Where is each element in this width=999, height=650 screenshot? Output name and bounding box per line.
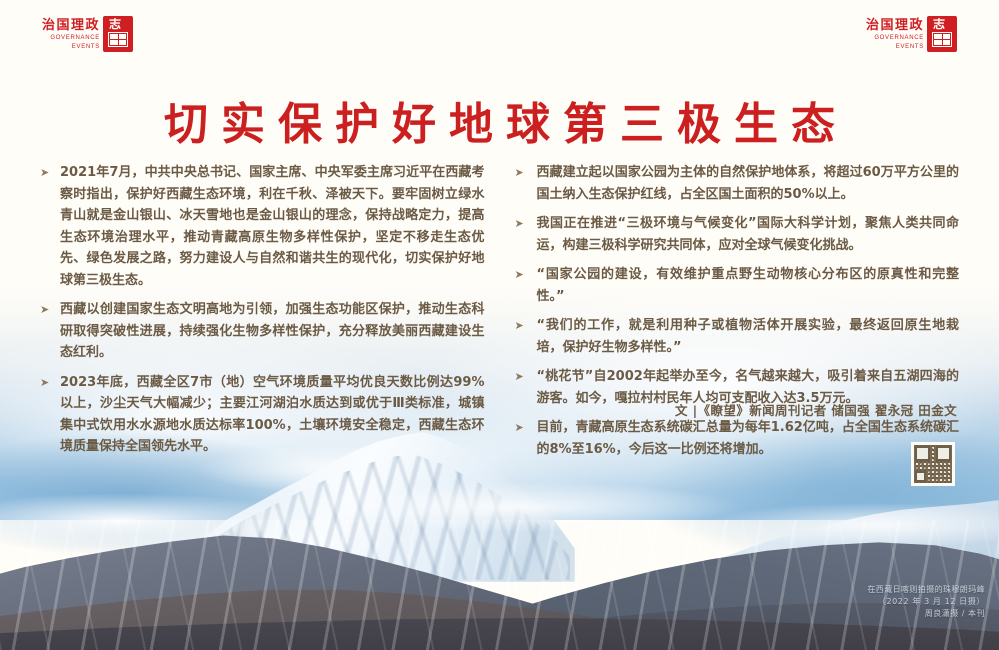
logo-right: 治国理政 GOVERNANCE EVENTS 志 <box>866 16 957 52</box>
arrow-bullet-icon: ➤ <box>515 315 537 336</box>
list-item: ➤ 2021年7月，中共中央总书记、国家主席、中央军委主席习近平在西藏考察时指出… <box>40 162 485 291</box>
seal-glyph: 志 <box>109 18 121 31</box>
list-item-text: 2023年底，西藏全区7市（地）空气环境质量平均优良天数比例达99%以上，沙尘天… <box>60 372 485 458</box>
list-item: ➤ 我国正在推进“三极环境与气候变化”国际大科学计划，聚焦人类共同命运，构建三极… <box>515 213 960 256</box>
list-item: ➤ 西藏建立起以国家公园为主体的自然保护地体系，将超过60万平方公里的国土纳入生… <box>515 162 960 205</box>
list-item-text: 目前，青藏高原生态系统碳汇总量为每年1.62亿吨，占全国生态系统碳汇的8%至16… <box>537 417 960 460</box>
logo-text-block: 治国理政 GOVERNANCE EVENTS <box>42 19 100 50</box>
seal-icon: 志 <box>927 16 957 52</box>
arrow-bullet-icon: ➤ <box>515 213 537 234</box>
list-item-text: 西藏以创建国家生态文明高地为引领，加强生态功能区保护，推动生态科研取得突破性进展… <box>60 299 485 364</box>
qr-code-pattern <box>914 445 952 483</box>
logo-english-line1: GOVERNANCE <box>866 35 924 41</box>
seal-icon: 志 <box>103 16 133 52</box>
seal-grid <box>934 34 950 45</box>
poster-page: 治国理政 GOVERNANCE EVENTS 志 治国理政 GOVERNANCE… <box>0 0 999 650</box>
arrow-bullet-icon: ➤ <box>40 299 60 320</box>
logo-chinese-name: 治国理政 <box>42 19 100 32</box>
list-item-text: “国家公园的建设，有效维护重点野生动物核心分布区的原真性和完整性。” <box>537 264 960 307</box>
arrow-bullet-icon: ➤ <box>515 264 537 285</box>
photo-caption-line1: 在西藏日喀则拍摄的珠穆朗玛峰 <box>867 584 985 596</box>
arrow-bullet-icon: ➤ <box>515 417 537 438</box>
arrow-bullet-icon: ➤ <box>40 372 60 393</box>
left-column: ➤ 2021年7月，中共中央总书记、国家主席、中央军委主席习近平在西藏考察时指出… <box>40 162 485 468</box>
logo-chinese-name: 治国理政 <box>866 19 924 32</box>
qr-corner-bottom-left <box>915 471 926 482</box>
photo-caption-line3: 周良潇摄 / 本刊 <box>867 608 985 620</box>
list-item: ➤ 西藏以创建国家生态文明高地为引领，加强生态功能区保护，推动生态科研取得突破性… <box>40 299 485 364</box>
list-item-text: 我国正在推进“三极环境与气候变化”国际大科学计划，聚焦人类共同命运，构建三极科学… <box>537 213 960 256</box>
photo-caption: 在西藏日喀则拍摄的珠穆朗玛峰 （2022 年 3 月 12 日摄） 周良潇摄 /… <box>867 584 985 620</box>
list-item: ➤ 目前，青藏高原生态系统碳汇总量为每年1.62亿吨，占全国生态系统碳汇的8%至… <box>515 417 960 460</box>
list-item-text: “我们的工作，就是利用种子或植物活体开展实验，最终返回原生地栽培，保护好生物多样… <box>537 315 960 358</box>
seal-glyph: 志 <box>933 18 945 31</box>
arrow-bullet-icon: ➤ <box>40 162 60 183</box>
list-item-text: 西藏建立起以国家公园为主体的自然保护地体系，将超过60万平方公里的国土纳入生态保… <box>537 162 960 205</box>
article-columns: ➤ 2021年7月，中共中央总书记、国家主席、中央军委主席习近平在西藏考察时指出… <box>0 162 999 468</box>
logo-english-line1: GOVERNANCE <box>42 35 100 41</box>
logo-english-line2: EVENTS <box>866 44 924 50</box>
page-title: 切实保护好地球第三极生态 <box>0 88 999 152</box>
list-item: ➤ “我们的工作，就是利用种子或植物活体开展实验，最终返回原生地栽培，保护好生物… <box>515 315 960 358</box>
photo-caption-line2: （2022 年 3 月 12 日摄） <box>867 596 985 608</box>
right-column: ➤ 西藏建立起以国家公园为主体的自然保护地体系，将超过60万平方公里的国土纳入生… <box>515 162 960 468</box>
list-item: ➤ 2023年底，西藏全区7市（地）空气环境质量平均优良天数比例达99%以上，沙… <box>40 372 485 458</box>
arrow-bullet-icon: ➤ <box>515 366 537 387</box>
byline: 文 |《瞭望》新闻周刊记者 储国强 翟永冠 田金文 <box>675 400 957 419</box>
qr-code-icon[interactable] <box>911 442 955 486</box>
logo-left: 治国理政 GOVERNANCE EVENTS 志 <box>42 16 133 52</box>
list-item: ➤ “国家公园的建设，有效维护重点野生动物核心分布区的原真性和完整性。” <box>515 264 960 307</box>
arrow-bullet-icon: ➤ <box>515 162 537 183</box>
seal-grid <box>110 34 126 45</box>
logo-english-line2: EVENTS <box>42 44 100 50</box>
list-item-text: 2021年7月，中共中央总书记、国家主席、中央军委主席习近平在西藏考察时指出，保… <box>60 162 485 291</box>
logo-text-block: 治国理政 GOVERNANCE EVENTS <box>866 19 924 50</box>
